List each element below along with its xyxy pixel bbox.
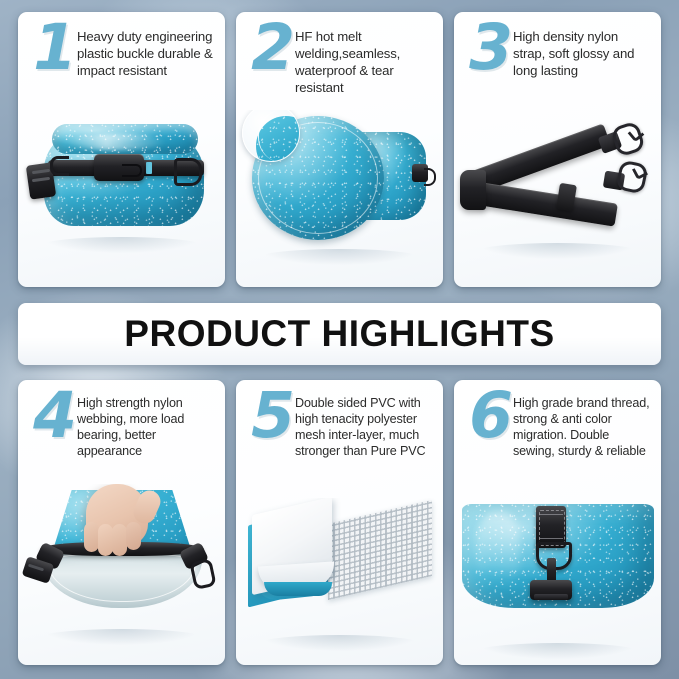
- card-6-description: High grade brand thread, strong & anti c…: [513, 394, 650, 459]
- banner-title: PRODUCT HIGHLIGHTS: [124, 313, 554, 355]
- card-2-description: HF hot melt welding,seamless, waterproof…: [295, 26, 432, 97]
- card-5-header: 5 Double sided PVC with high tenacity po…: [249, 394, 432, 459]
- card-3-description: High density nylon strap, soft glossy an…: [513, 26, 650, 79]
- card-4-description: High strength nylon webbing, more load b…: [77, 394, 214, 459]
- card-4-number: 4: [31, 390, 77, 443]
- card-1-number: 1: [31, 22, 77, 75]
- nylon-shoulder-strap-photo: [454, 108, 661, 287]
- highlight-card-1: 1 Heavy duty engineering plastic buckle …: [18, 12, 225, 287]
- card-4-header: 4 High strength nylon webbing, more load…: [31, 394, 214, 459]
- hand-holding-webbing-photo: [18, 484, 225, 665]
- highlight-card-2: 2 HF hot melt welding,seamless, waterpro…: [236, 12, 443, 287]
- card-5-number: 5: [249, 390, 295, 443]
- card-6-number: 6: [467, 390, 513, 443]
- welded-seam-closeup-photo: [236, 110, 443, 287]
- highlight-card-3: 3 High density nylon strap, soft glossy …: [454, 12, 661, 287]
- product-highlights-banner: PRODUCT HIGHLIGHTS: [18, 303, 661, 365]
- highlight-card-6: 6 High grade brand thread, strong & anti…: [454, 380, 661, 665]
- infographic-page: 1 Heavy duty engineering plastic buckle …: [0, 0, 679, 679]
- card-2-number: 2: [249, 22, 295, 75]
- pvc-mesh-layer-photo: [236, 498, 443, 665]
- card-1-description: Heavy duty engineering plastic buckle du…: [77, 26, 214, 79]
- card-1-header: 1 Heavy duty engineering plastic buckle …: [31, 26, 214, 79]
- card-2-header: 2 HF hot melt welding,seamless, waterpro…: [249, 26, 432, 97]
- card-3-header: 3 High density nylon strap, soft glossy …: [467, 26, 650, 79]
- d-ring-stitching-photo: [454, 496, 661, 665]
- highlight-card-5: 5 Double sided PVC with high tenacity po…: [236, 380, 443, 665]
- highlight-card-4: 4 High strength nylon webbing, more load…: [18, 380, 225, 665]
- card-6-header: 6 High grade brand thread, strong & anti…: [467, 394, 650, 459]
- dry-bag-with-buckle-photo: [18, 104, 225, 287]
- card-3-number: 3: [467, 22, 513, 75]
- card-5-description: Double sided PVC with high tenacity poly…: [295, 394, 432, 459]
